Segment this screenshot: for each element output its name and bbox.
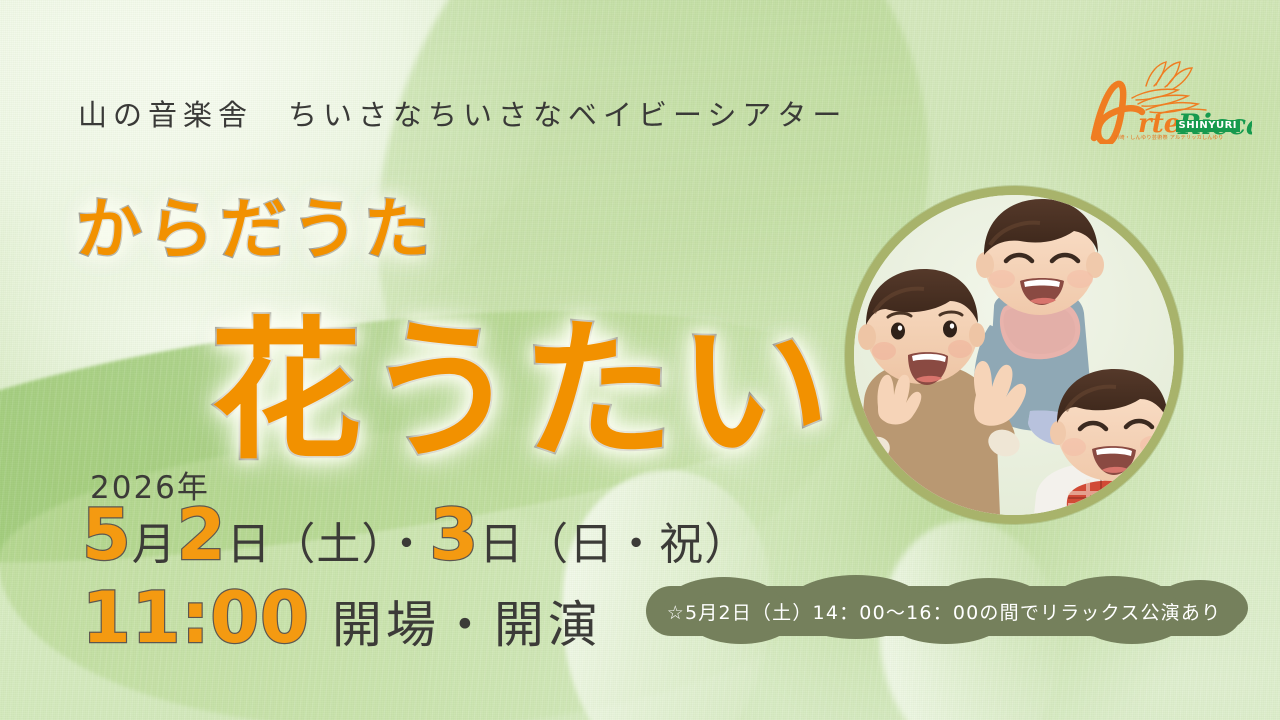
time-minute: 00 <box>210 577 309 659</box>
date-separator: ・ <box>384 519 429 570</box>
date-day2-kanji: 日（日・祝） <box>479 519 749 570</box>
time-line: 11:00開場・開演 <box>82 583 602 653</box>
arte-ricca-logo: rte Ricca SHINYURI 川崎・しんゆり芸術祭 アルテリッカしんゆり <box>1080 52 1252 144</box>
main-title-hanautai: 花うたい <box>210 268 834 488</box>
poster-canvas: 山の音楽舎 ちいさなちいさなベイビーシアター rte Ricca SHINYUR… <box>0 0 1280 720</box>
relax-badge-text: ☆5月2日（土）14：00〜16：00の間でリラックス公演あり <box>646 586 1242 636</box>
logo-japanese-caption: 川崎・しんゆり芸術祭 アルテリッカしんゆり <box>1114 134 1224 141</box>
date-line: 5月2日（土）・3日（日・祝） <box>82 500 749 570</box>
date-day1-kanji: 日（土） <box>226 519 384 570</box>
time-colon: : <box>181 577 210 659</box>
logo-shinyuri-label: SHINYURI <box>1176 120 1240 132</box>
subtitle-karadauta: からだうた <box>76 176 436 272</box>
date-month-number: 5 <box>82 494 132 576</box>
date-day2-number: 3 <box>429 494 479 576</box>
organization-line: 山の音楽舎 ちいさなちいさなベイビーシアター <box>78 92 847 134</box>
date-month-kanji: 月 <box>132 519 177 570</box>
photo-circle-frame <box>845 186 1183 524</box>
baby-photo <box>854 195 1174 515</box>
time-label: 開場・開演 <box>332 596 602 654</box>
date-day1-number: 2 <box>177 494 227 576</box>
time-hour: 11 <box>82 577 181 659</box>
relax-performance-badge: ☆5月2日（土）14：00〜16：00の間でリラックス公演あり <box>646 586 1242 636</box>
